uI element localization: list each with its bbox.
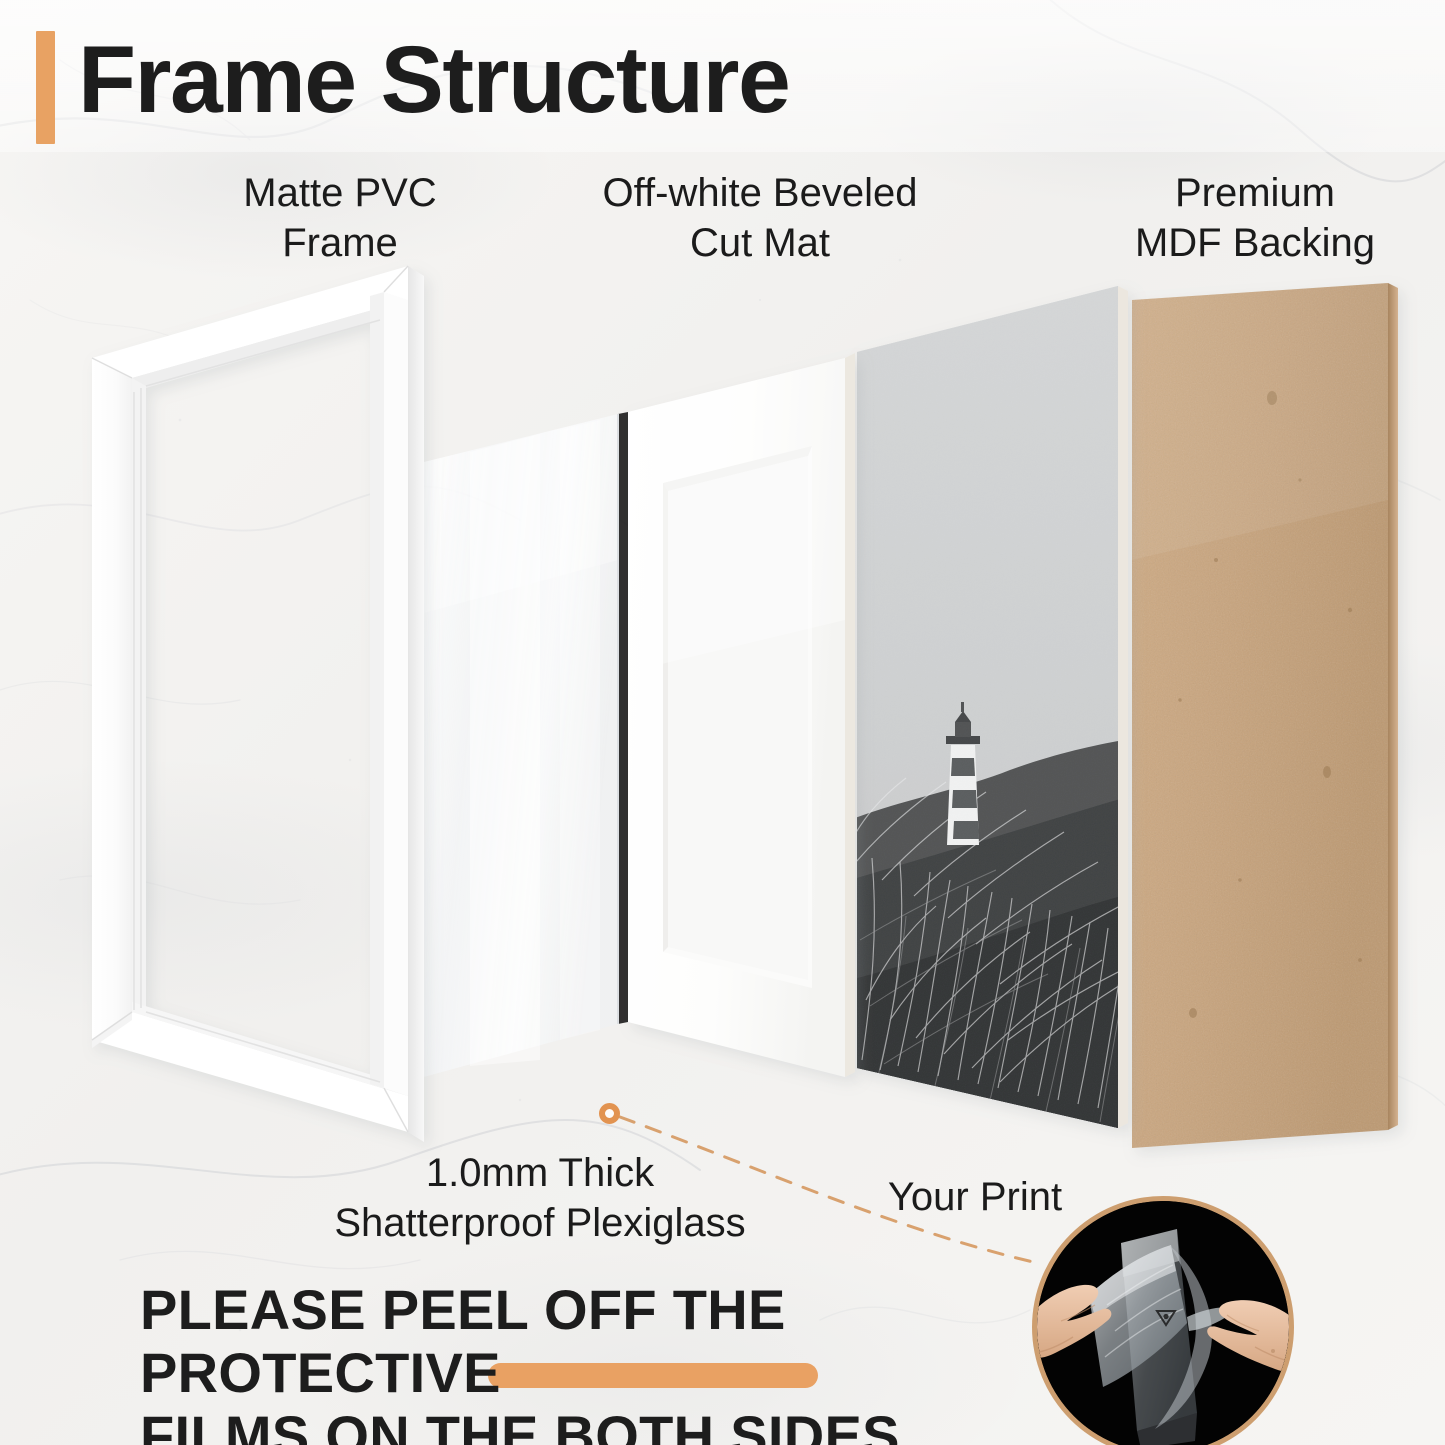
label-line-2: Cut Mat	[530, 218, 990, 268]
banner-line-2: FILMS ON THE BOTH SIDES	[140, 1404, 1050, 1445]
label-matte-pvc-frame: Matte PVC Frame	[110, 168, 570, 268]
label-mdf-backing: Premium MDF Backing	[1060, 168, 1445, 268]
label-line-2: Frame	[110, 218, 570, 268]
label-line-1: Off-white Beveled	[530, 168, 990, 218]
infographic-canvas: Frame Structure Matte PVC Frame Off-whit…	[0, 0, 1445, 1445]
callout-line-2: Shatterproof Plexiglass	[255, 1198, 825, 1248]
callout-line-1: 1.0mm Thick	[255, 1148, 825, 1198]
peel-instruction-banner: PLEASE PEEL OFF THE PROTECTIVE FILMS ON …	[140, 1278, 1050, 1445]
label-line-1: Premium	[1060, 168, 1445, 218]
layer-plexiglass	[420, 412, 628, 1078]
protective-film-inset-photo	[1037, 1201, 1289, 1445]
label-cut-mat: Off-white Beveled Cut Mat	[530, 168, 990, 268]
layer-matte-pvc-frame	[92, 266, 424, 1142]
layer-your-print	[850, 280, 1135, 1140]
header: Frame Structure	[0, 0, 1445, 152]
label-line-2: MDF Backing	[1060, 218, 1445, 268]
plexiglass-callout-marker	[599, 1103, 620, 1124]
label-line-1: Matte PVC	[110, 168, 570, 218]
layer-premium-mdf-backing	[1132, 283, 1402, 1153]
page-title: Frame Structure	[78, 24, 789, 136]
accent-bar	[36, 31, 55, 144]
print-photo-lighthouse	[850, 280, 1135, 1140]
layer-cut-mat	[628, 353, 855, 1077]
callout-plexiglass: 1.0mm Thick Shatterproof Plexiglass	[255, 1148, 825, 1248]
banner-line-1: PLEASE PEEL OFF THE PROTECTIVE	[140, 1278, 1050, 1404]
callout-your-print: Your Print	[845, 1172, 1105, 1222]
